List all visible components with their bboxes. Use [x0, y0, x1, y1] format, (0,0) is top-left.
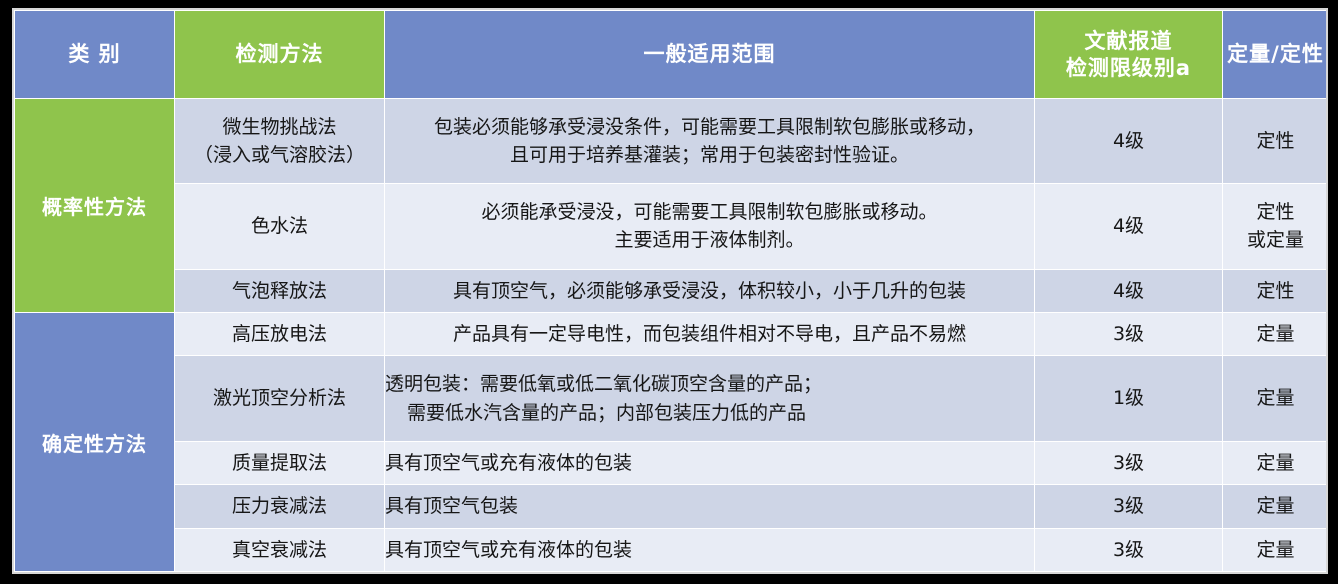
scope-line1: 具有顶空气或充有液体的包装 — [385, 536, 1034, 565]
column-header-detection-limit-level: 文献报道 检测限级别a — [1035, 11, 1223, 99]
level-cell: 4级 — [1035, 99, 1223, 184]
table-row: 色水法 必须能承受浸没，可能需要工具限制软包膨胀或移动。 主要适用于液体制剂。 … — [15, 184, 1329, 269]
quant-cell: 定量 — [1223, 528, 1329, 571]
scope-cell: 具有顶空气或充有液体的包装 — [385, 528, 1035, 571]
scope-cell: 产品具有一定导电性，而包装组件相对不导电，且产品不易燃 — [385, 313, 1035, 356]
category-cell-probabilistic: 概率性方法 — [15, 99, 175, 313]
method-cell: 高压放电法 — [175, 313, 385, 356]
category-cell-deterministic: 确定性方法 — [15, 313, 175, 572]
scope-cell: 包装必须能够承受浸没条件，可能需要工具限制软包膨胀或移动， 且可用于培养基灌装；… — [385, 99, 1035, 184]
scope-cell: 具有顶空气包装 — [385, 485, 1035, 528]
quant-line1: 定性 — [1223, 277, 1328, 306]
quant-line1: 定量 — [1223, 320, 1328, 349]
quant-line1: 定量 — [1223, 384, 1328, 413]
quant-line1: 定量 — [1223, 449, 1328, 478]
scope-line1: 具有顶空气或充有液体的包装 — [385, 449, 1034, 478]
column-header-scope: 一般适用范围 — [385, 11, 1035, 99]
column-header-method: 检测方法 — [175, 11, 385, 99]
level-cell: 1级 — [1035, 356, 1223, 441]
method-cell: 色水法 — [175, 184, 385, 269]
column-header-quantitative-qualitative: 定量/定性 — [1223, 11, 1329, 99]
level-cell: 3级 — [1035, 485, 1223, 528]
table-header: 类 别 检测方法 一般适用范围 文献报道 检测限级别a 定量/定性 — [15, 11, 1329, 99]
method-label-line1: 压力衰减法 — [175, 492, 384, 521]
method-cell: 气泡释放法 — [175, 269, 385, 312]
level-cell: 3级 — [1035, 313, 1223, 356]
scope-line2: 需要低水汽含量的产品；内部包装压力低的产品 — [385, 399, 1034, 428]
scope-line1: 具有顶空气，必须能够承受浸没，体积较小，小于几升的包装 — [385, 277, 1034, 306]
quant-cell: 定量 — [1223, 441, 1329, 484]
method-label-line1: 微生物挑战法 — [175, 113, 384, 142]
quant-cell: 定性 — [1223, 269, 1329, 312]
quant-cell: 定量 — [1223, 313, 1329, 356]
level-cell: 4级 — [1035, 269, 1223, 312]
method-cell: 压力衰减法 — [175, 485, 385, 528]
scope-cell: 透明包装：需要低氧或低二氧化碳顶空含量的产品； 需要低水汽含量的产品；内部包装压… — [385, 356, 1035, 441]
method-label-line1: 色水法 — [175, 212, 384, 241]
column-header-detection-limit-level-line1: 文献报道 — [1035, 28, 1222, 54]
quant-cell: 定量 — [1223, 356, 1329, 441]
quant-cell: 定性 或定量 — [1223, 184, 1329, 269]
scope-cell: 具有顶空气，必须能够承受浸没，体积较小，小于几升的包装 — [385, 269, 1035, 312]
table-row: 确定性方法 高压放电法 产品具有一定导电性，而包装组件相对不导电，且产品不易燃 … — [15, 313, 1329, 356]
method-label-line1: 真空衰减法 — [175, 536, 384, 565]
scope-cell: 必须能承受浸没，可能需要工具限制软包膨胀或移动。 主要适用于液体制剂。 — [385, 184, 1035, 269]
scope-line1: 包装必须能够承受浸没条件，可能需要工具限制软包膨胀或移动， — [385, 113, 1034, 142]
quant-line1: 定量 — [1223, 536, 1328, 565]
method-cell: 微生物挑战法 （浸入或气溶胶法） — [175, 99, 385, 184]
scope-line2: 且可用于培养基灌装；常用于包装密封性验证。 — [385, 141, 1034, 170]
scope-line1: 具有顶空气包装 — [385, 492, 1034, 521]
level-cell: 3级 — [1035, 441, 1223, 484]
scope-cell: 具有顶空气或充有液体的包装 — [385, 441, 1035, 484]
table-row: 激光顶空分析法 透明包装：需要低氧或低二氧化碳顶空含量的产品； 需要低水汽含量的… — [15, 356, 1329, 441]
quant-line1: 定性 — [1223, 127, 1328, 156]
quant-cell: 定性 — [1223, 99, 1329, 184]
table-header-row: 类 别 检测方法 一般适用范围 文献报道 检测限级别a 定量/定性 — [15, 11, 1329, 99]
scope-line1: 必须能承受浸没，可能需要工具限制软包膨胀或移动。 — [385, 198, 1034, 227]
method-label-line1: 激光顶空分析法 — [175, 384, 384, 413]
method-cell: 激光顶空分析法 — [175, 356, 385, 441]
table-row: 概率性方法 微生物挑战法 （浸入或气溶胶法） 包装必须能够承受浸没条件，可能需要… — [15, 99, 1329, 184]
table-body: 概率性方法 微生物挑战法 （浸入或气溶胶法） 包装必须能够承受浸没条件，可能需要… — [15, 99, 1329, 572]
quant-line1: 定量 — [1223, 492, 1328, 521]
table-frame: 类 别 检测方法 一般适用范围 文献报道 检测限级别a 定量/定性 概率性方法 … — [0, 0, 1338, 584]
method-label-line1: 高压放电法 — [175, 320, 384, 349]
method-label-line1: 质量提取法 — [175, 449, 384, 478]
method-label-line2: （浸入或气溶胶法） — [175, 141, 384, 170]
level-cell: 4级 — [1035, 184, 1223, 269]
quant-cell: 定量 — [1223, 485, 1329, 528]
column-header-category: 类 别 — [15, 11, 175, 99]
column-header-detection-limit-level-line2: 检测限级别a — [1035, 55, 1222, 81]
method-cell: 质量提取法 — [175, 441, 385, 484]
quant-line2: 或定量 — [1223, 226, 1328, 255]
package-seal-test-methods-table: 类 别 检测方法 一般适用范围 文献报道 检测限级别a 定量/定性 概率性方法 … — [14, 10, 1328, 572]
method-cell: 真空衰减法 — [175, 528, 385, 571]
quant-line1: 定性 — [1223, 198, 1328, 227]
table-inner-border: 类 别 检测方法 一般适用范围 文献报道 检测限级别a 定量/定性 概率性方法 … — [12, 8, 1328, 574]
scope-line1: 产品具有一定导电性，而包装组件相对不导电，且产品不易燃 — [385, 320, 1034, 349]
scope-line1: 透明包装：需要低氧或低二氧化碳顶空含量的产品； — [385, 370, 1034, 399]
table-row: 质量提取法 具有顶空气或充有液体的包装 3级 定量 — [15, 441, 1329, 484]
table-row: 真空衰减法 具有顶空气或充有液体的包装 3级 定量 — [15, 528, 1329, 571]
level-cell: 3级 — [1035, 528, 1223, 571]
table-row: 压力衰减法 具有顶空气包装 3级 定量 — [15, 485, 1329, 528]
method-label-line1: 气泡释放法 — [175, 277, 384, 306]
table-row: 气泡释放法 具有顶空气，必须能够承受浸没，体积较小，小于几升的包装 4级 定性 — [15, 269, 1329, 312]
scope-line2: 主要适用于液体制剂。 — [385, 226, 1034, 255]
